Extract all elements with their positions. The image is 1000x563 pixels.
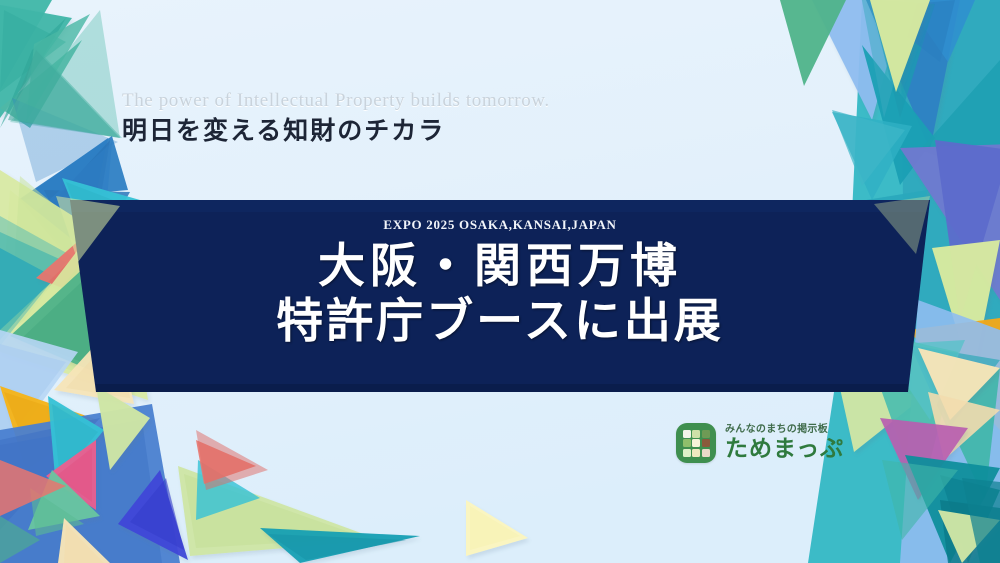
logo-tile-9 [702, 449, 710, 457]
tamemap-logo-icon [676, 423, 716, 463]
bulletin-board-grid-icon [683, 430, 710, 457]
logo-tile-3 [702, 430, 710, 438]
logo-tagline: みんなのまちの掲示板 [725, 424, 844, 435]
logo-tile-6 [702, 439, 710, 447]
tagline-japanese: 明日を変える知財のチカラ [122, 116, 550, 146]
logo-tile-8 [692, 449, 700, 457]
promotional-banner-canvas: The power of Intellectual Property build… [0, 0, 1000, 563]
logo-tile-4 [683, 439, 691, 447]
logo-tile-2 [692, 430, 700, 438]
logo-brand-name: ためまっぷ [725, 436, 844, 462]
tamemap-logo[interactable]: みんなのまちの掲示板 ためまっぷ [676, 423, 844, 463]
logo-tile-7 [683, 449, 691, 457]
tamemap-logo-text: みんなのまちの掲示板 ためまっぷ [725, 424, 844, 462]
logo-tile-1 [683, 430, 691, 438]
logo-tile-5 [692, 439, 700, 447]
decorative-background [0, 0, 1000, 563]
tagline-english: The power of Intellectual Property build… [122, 90, 550, 112]
tagline-block: The power of Intellectual Property build… [122, 90, 550, 146]
navy-banner-shape [70, 200, 930, 392]
